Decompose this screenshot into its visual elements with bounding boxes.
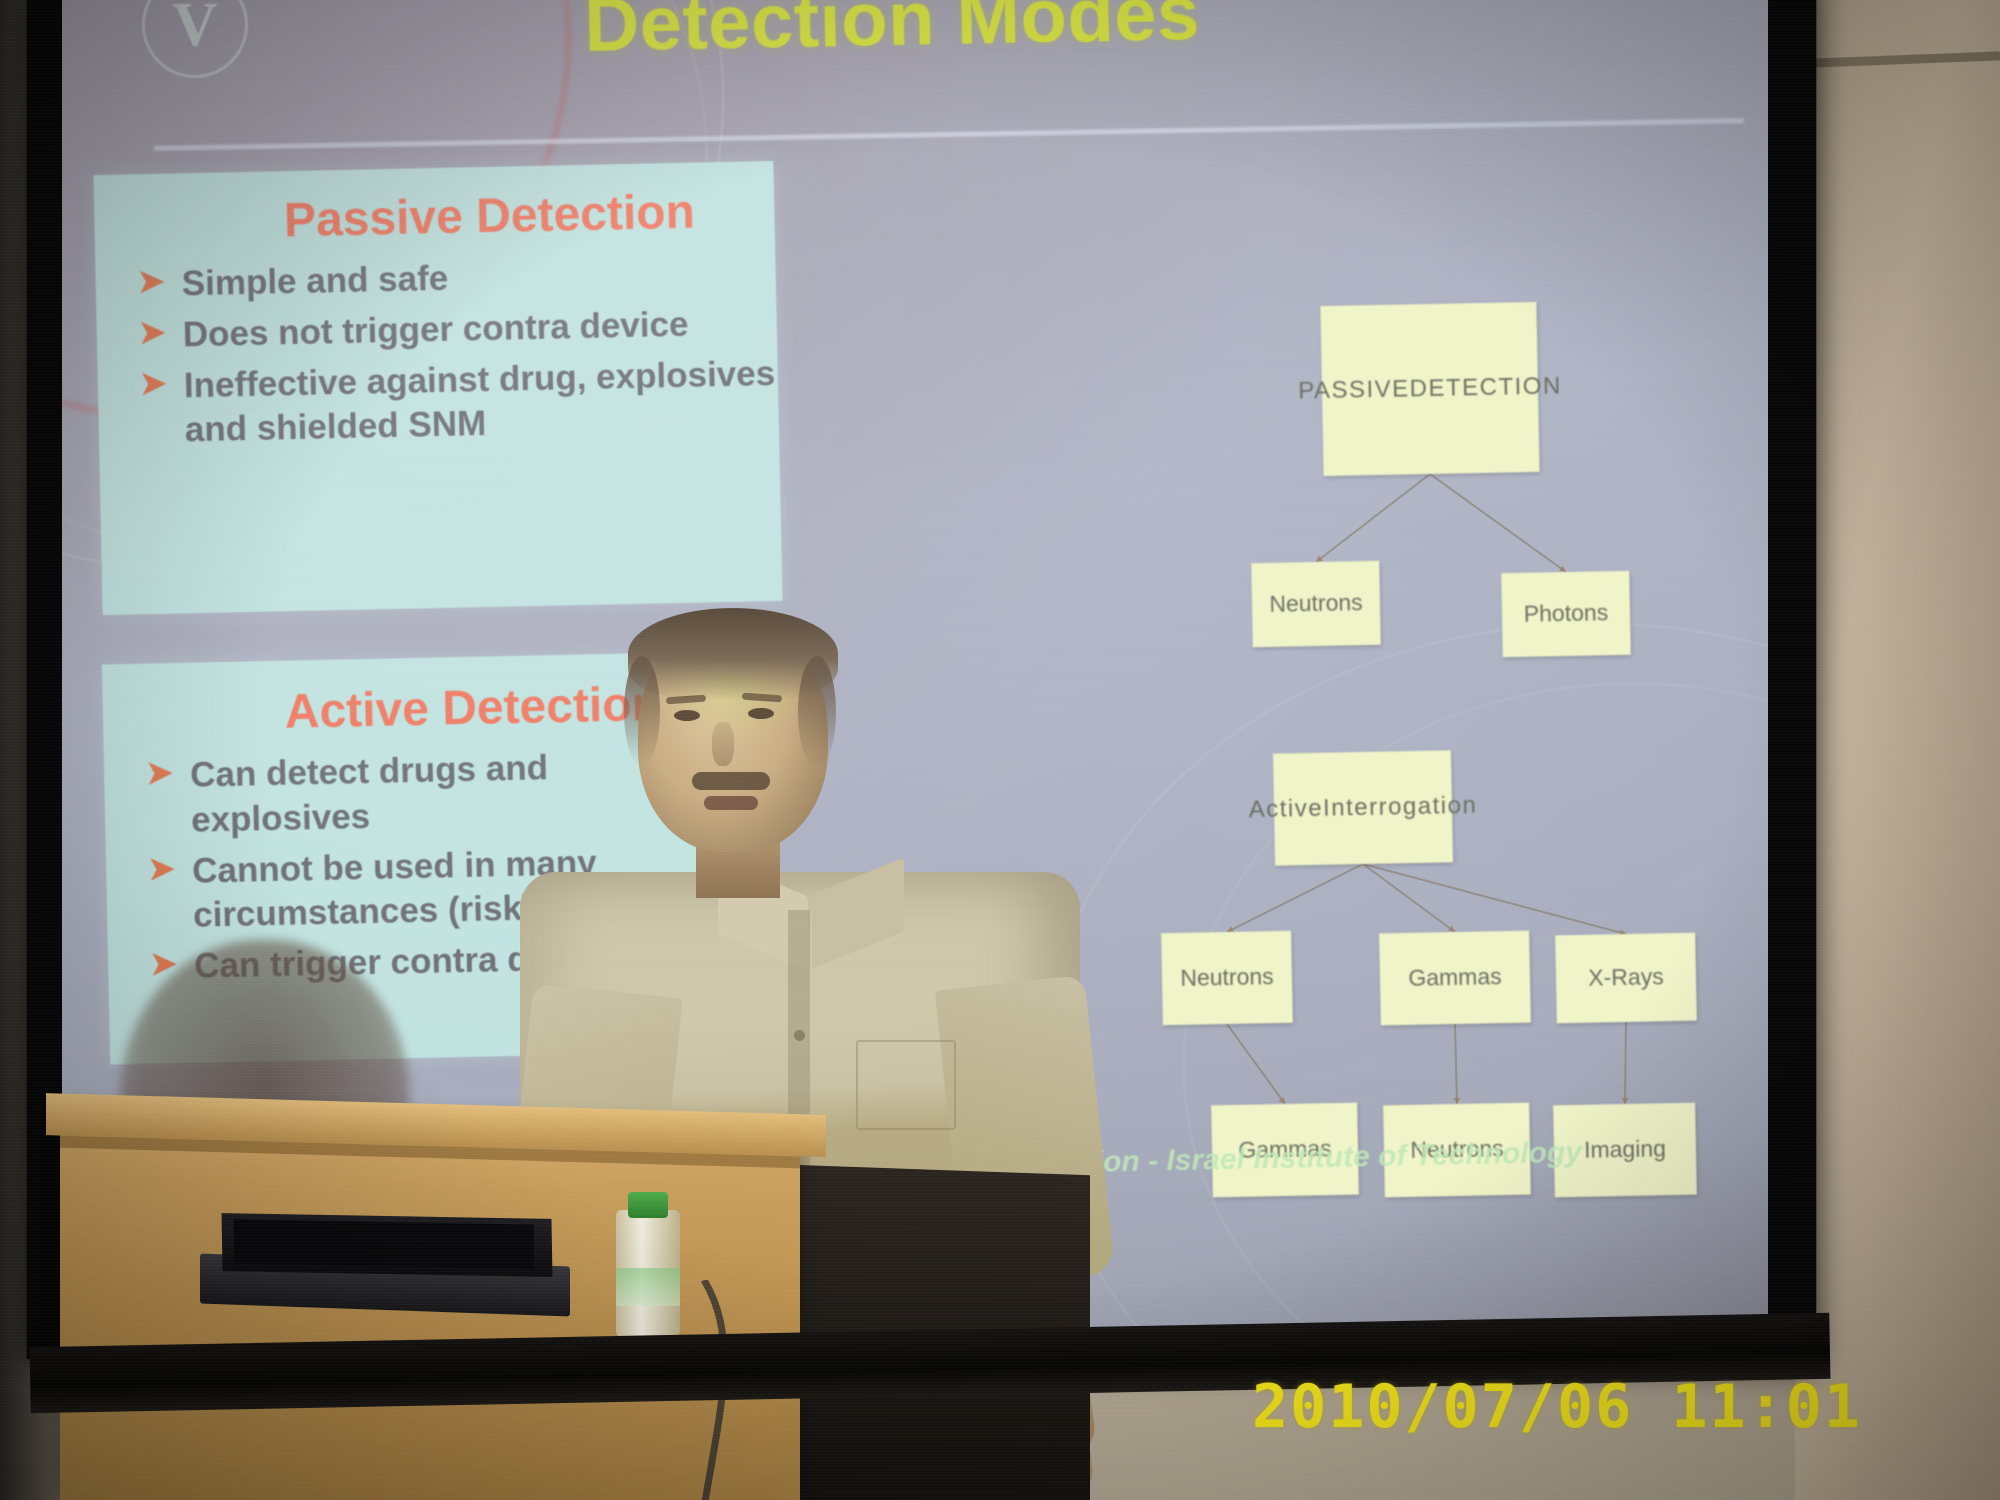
- diagram-edge: [1363, 864, 1455, 932]
- diagram-node-label: Imaging: [1584, 1134, 1666, 1167]
- diagram-node-label: Neutrons: [1269, 588, 1363, 621]
- diagram-edge: [1227, 864, 1363, 932]
- speaker-hair-left: [624, 656, 660, 766]
- water-bottle-cap: [628, 1192, 668, 1218]
- diagram-node-active: ActiveInterrogation: [1273, 750, 1453, 865]
- diagram-edge: [1363, 864, 1626, 934]
- diagram-node-label: X-Rays: [1588, 962, 1664, 994]
- speaker-eye-right: [748, 708, 774, 719]
- diagram-node-label: Photons: [1524, 598, 1609, 631]
- diagram-edge: [1455, 1024, 1457, 1104]
- diagram-node-passive: PASSIVEDETECTION: [1320, 302, 1539, 476]
- diagram-edge: [1316, 474, 1430, 562]
- speaker-mouth: [704, 796, 758, 810]
- speaker-eye-left: [674, 710, 700, 721]
- diagram-node-a-neutrons: Neutrons: [1161, 931, 1293, 1025]
- diagram-node-label: PASSIVE: [1298, 373, 1410, 408]
- diagram-node-label: DETECTION: [1409, 370, 1562, 405]
- speaker-hair-right: [798, 656, 836, 768]
- photograph-scene: V Detection Modes Passive Detection➤Simp…: [0, 0, 2000, 1500]
- diagram-node-label: Gammas: [1408, 962, 1502, 995]
- diagram-edge: [1625, 1022, 1626, 1104]
- speaker-nose: [712, 722, 734, 766]
- water-bottle-label: [616, 1268, 680, 1306]
- speaker-shirt-pocket: [856, 1040, 956, 1130]
- diagram-node-a-xrays: X-Rays: [1555, 933, 1697, 1024]
- diagram-node-p-photons: Photons: [1501, 571, 1631, 657]
- diagram-node-p-neutrons: Neutrons: [1251, 561, 1381, 647]
- diagram-node-label: Neutrons: [1180, 962, 1274, 995]
- speaker-moustache: [692, 772, 770, 790]
- diagram-node-a-gammas: Gammas: [1379, 931, 1531, 1026]
- camera-timestamp: 2010/07/06 11:01: [1252, 1372, 1862, 1442]
- laptop-screen: [234, 1219, 535, 1268]
- diagram-edge: [1227, 1024, 1285, 1104]
- shirt-button: [794, 1030, 805, 1041]
- room-wall-right: [1795, 0, 2000, 1500]
- diagram-node-label: Interrogation: [1323, 790, 1478, 825]
- diagram-node-label: Active: [1248, 793, 1323, 827]
- diagram-edge: [1430, 474, 1566, 572]
